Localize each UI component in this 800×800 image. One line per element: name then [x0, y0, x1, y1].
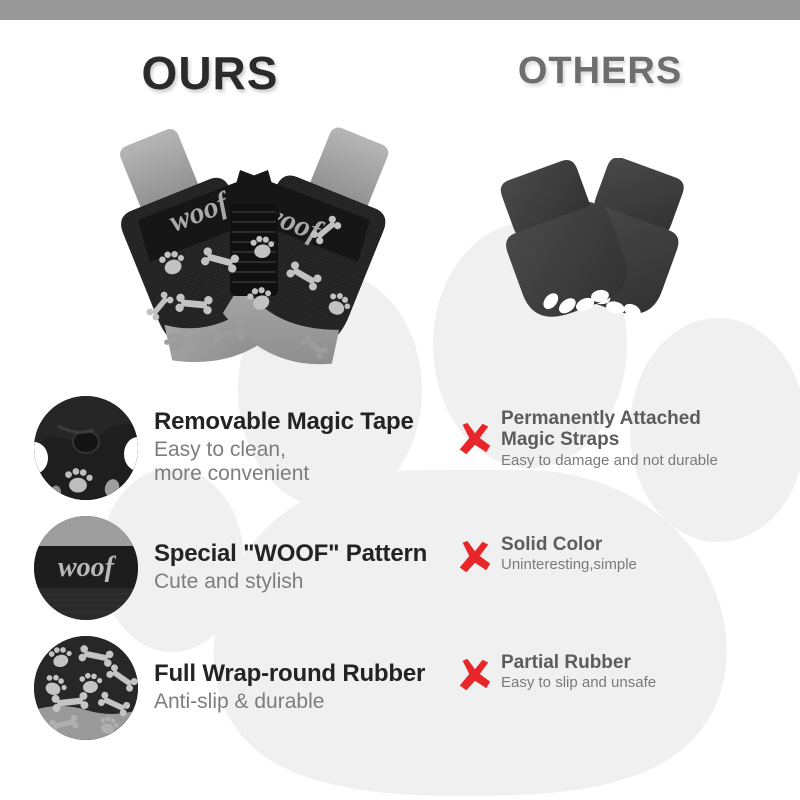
ours-feature-text-1: Removable Magic Tape Easy to clean, more… — [154, 409, 454, 487]
others-column-header: OTHERS — [420, 50, 780, 93]
ours-feature-sub-1-line2: more convenient — [154, 462, 454, 486]
rubber-bone-paw-grip-thumbnail — [34, 636, 138, 740]
ours-feature-sub-3: Anti-slip & durable — [154, 690, 454, 714]
ours-feature-row-2: woof Special "WOOF" Pattern Cute and sty… — [34, 516, 454, 620]
ours-product-photo: woof woof — [108, 108, 398, 383]
ours-feature-title-1: Removable Magic Tape — [154, 409, 454, 436]
others-product-photo — [488, 158, 713, 353]
top-border-band — [0, 0, 800, 20]
svg-text:woof: woof — [58, 552, 117, 583]
others-feature-text-3: Partial Rubber Easy to slip and unsafe — [501, 652, 656, 692]
ours-feature-title-3: Full Wrap-round Rubber — [154, 661, 454, 688]
ours-feature-sub-3-line1: Anti-slip & durable — [154, 690, 454, 714]
others-feature-sub-3: Easy to slip and unsafe — [501, 674, 656, 692]
ours-column-header: OURS — [0, 46, 420, 100]
ours-feature-title-2: Special "WOOF" Pattern — [154, 541, 454, 568]
infographic-canvas: OURS OTHERS — [0, 0, 800, 800]
woof-script-pattern-thumbnail: woof — [34, 516, 138, 620]
others-feature-sub-1: Easy to damage and not durable — [501, 452, 718, 470]
sock-velcro-tab-thumbnail — [34, 396, 138, 500]
others-feature-text-1: Permanently Attached Magic Straps Easy t… — [501, 408, 718, 470]
others-feature-row-1: Permanently Attached Magic Straps Easy t… — [455, 408, 795, 470]
others-feature-title-1-line2: Magic Straps — [501, 429, 718, 450]
ours-feature-text-2: Special "WOOF" Pattern Cute and stylish — [154, 541, 454, 594]
ours-feature-text-3: Full Wrap-round Rubber Anti-slip & durab… — [154, 661, 454, 714]
red-x-icon — [455, 656, 493, 694]
others-feature-title-1-line1: Permanently Attached — [501, 408, 718, 429]
ours-feature-sub-2: Cute and stylish — [154, 570, 454, 594]
others-feature-row-2: Solid Color Uninteresting,simple — [455, 534, 795, 576]
red-x-icon — [455, 420, 493, 458]
ours-feature-sub-1: Easy to clean, more convenient — [154, 438, 454, 487]
ours-feature-sub-1-line1: Easy to clean, — [154, 438, 454, 462]
ours-feature-row-1: Removable Magic Tape Easy to clean, more… — [34, 396, 454, 500]
others-feature-title-3-line1: Partial Rubber — [501, 652, 656, 673]
red-x-icon — [455, 538, 493, 576]
others-feature-row-3: Partial Rubber Easy to slip and unsafe — [455, 652, 795, 694]
ours-feature-row-3: Full Wrap-round Rubber Anti-slip & durab… — [34, 636, 454, 740]
others-feature-title-2-line1: Solid Color — [501, 534, 637, 555]
ours-feature-sub-2-line1: Cute and stylish — [154, 570, 454, 594]
others-feature-text-2: Solid Color Uninteresting,simple — [501, 534, 637, 574]
others-feature-sub-2: Uninteresting,simple — [501, 556, 637, 574]
